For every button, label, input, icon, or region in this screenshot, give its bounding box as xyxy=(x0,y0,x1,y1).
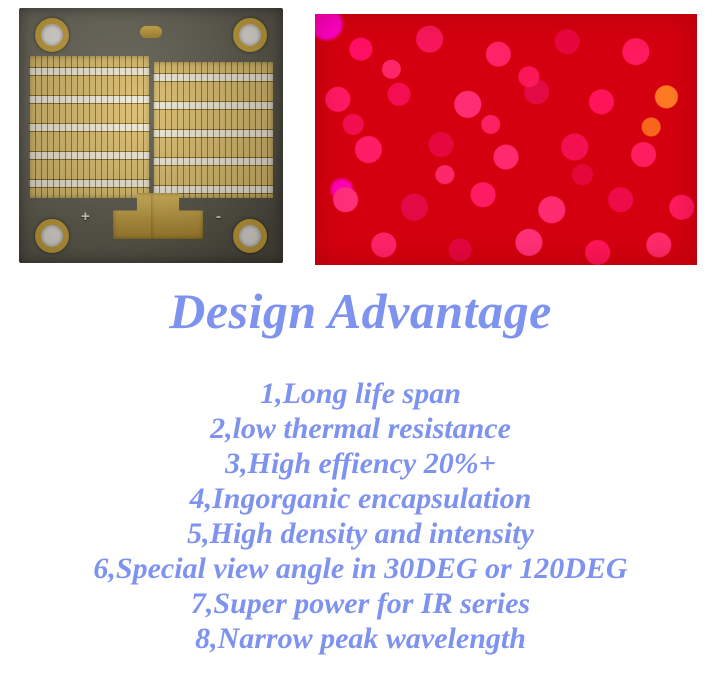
list-item: 4,Ingorganic encapsulation xyxy=(0,481,721,516)
list-item: 5,High density and intensity xyxy=(0,516,721,551)
cathode-contact-pad xyxy=(151,193,203,239)
list-item: 3,High effiency 20%+ xyxy=(0,446,721,481)
list-item: 7,Super power for IR series xyxy=(0,586,721,621)
page-title: Design Advantage xyxy=(0,283,721,339)
advantage-list: 1,Long life span 2,low thermal resistanc… xyxy=(0,376,721,656)
led-die-array-left xyxy=(29,56,150,198)
polarity-plus-label: + xyxy=(81,208,90,225)
led-module-photo: + - xyxy=(19,8,283,263)
media-row: + - xyxy=(0,0,721,278)
mounting-hole-bottom-left xyxy=(35,219,69,253)
red-emitter-array-photo xyxy=(315,14,697,265)
alignment-pad-icon xyxy=(140,26,162,38)
led-die-array xyxy=(29,56,273,198)
led-die-array-right xyxy=(153,62,274,198)
mounting-hole-top-right xyxy=(233,18,267,52)
list-item: 6,Special view angle in 30DEG or 120DEG xyxy=(0,551,721,586)
list-item: 8,Narrow peak wavelength xyxy=(0,621,721,656)
polarity-minus-label: - xyxy=(216,208,221,225)
mounting-hole-top-left xyxy=(35,18,69,52)
list-item: 1,Long life span xyxy=(0,376,721,411)
mounting-hole-bottom-right xyxy=(233,219,267,253)
list-item: 2,low thermal resistance xyxy=(0,411,721,446)
